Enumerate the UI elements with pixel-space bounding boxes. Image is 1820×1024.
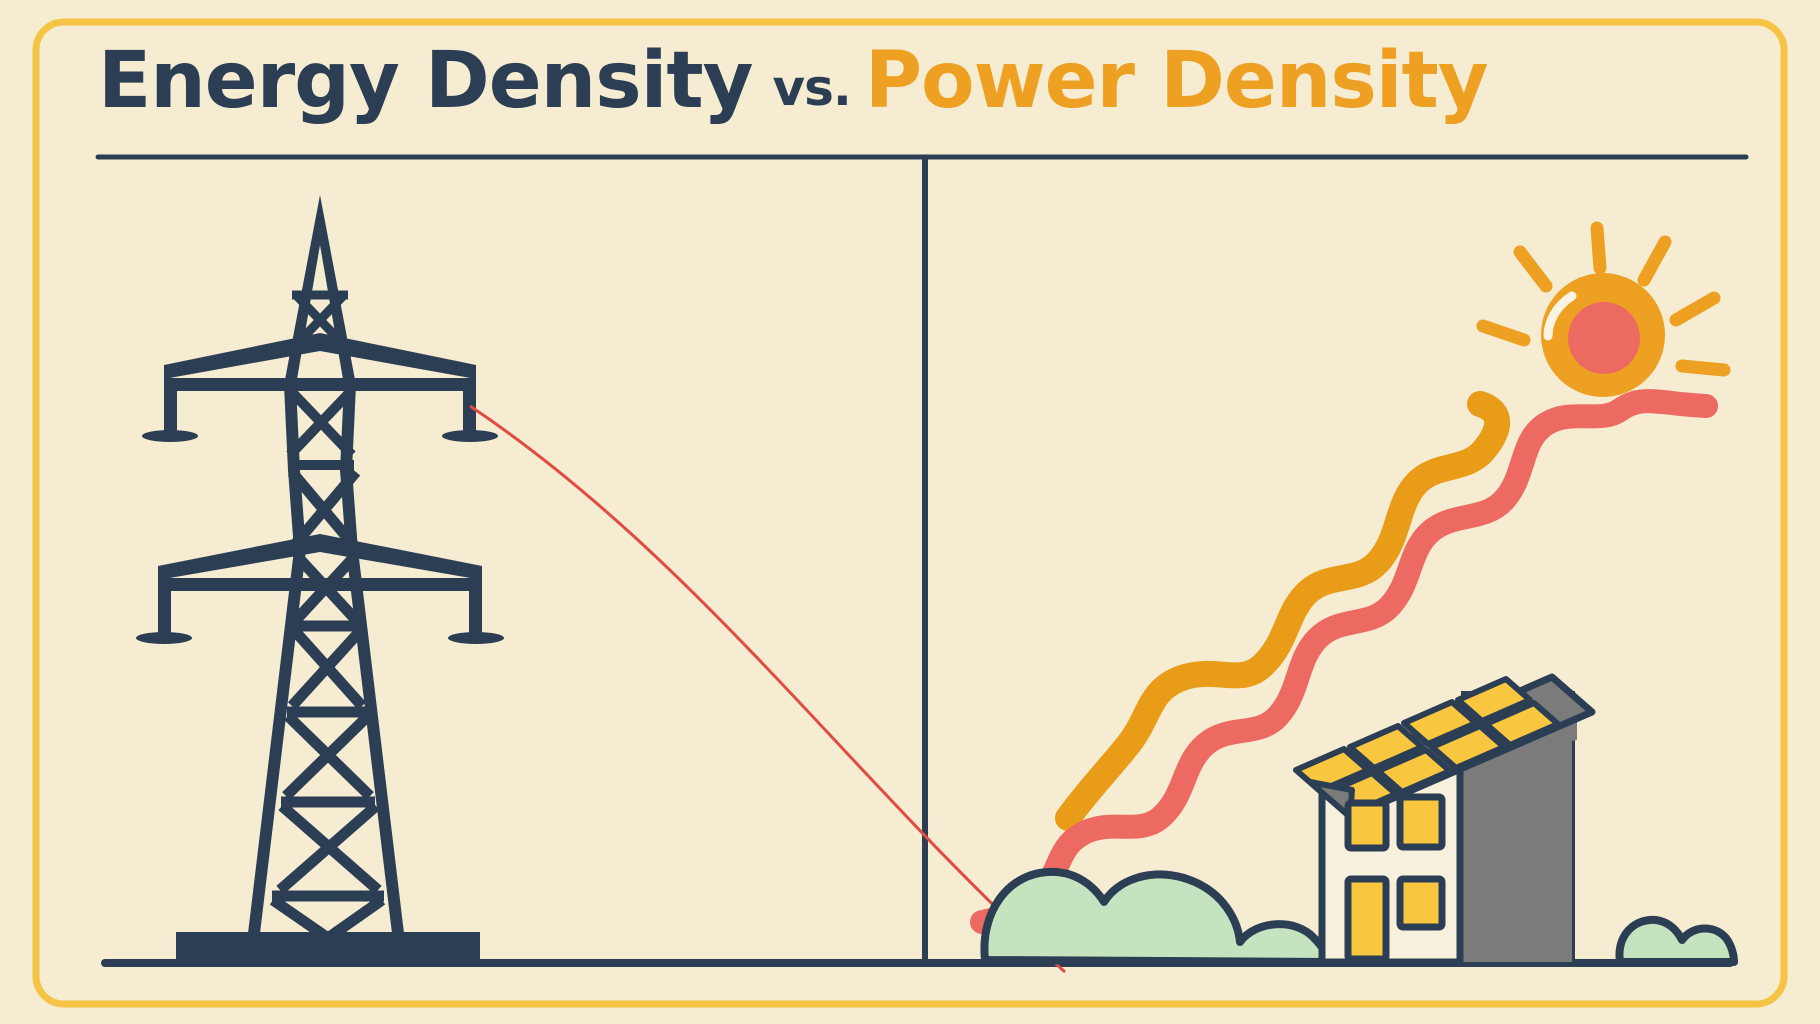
window-upper-right <box>1400 797 1442 847</box>
pylon-insulator-right-upper <box>442 430 498 442</box>
pylon-insulator-right-lower <box>448 632 504 644</box>
pylon-arm-post-right-lower <box>469 578 482 634</box>
pylon-arm-post-left-upper <box>164 378 177 432</box>
sun-core <box>1568 302 1640 374</box>
window-lower-right <box>1400 879 1442 927</box>
pylon-insulator-left-upper <box>142 430 198 442</box>
pylon-crossarm-upper-bar <box>164 378 476 391</box>
house-door <box>1348 879 1386 959</box>
pylon-insulator-left-lower <box>136 632 192 644</box>
illustration-svg <box>0 0 1820 1024</box>
infographic-canvas: Energy Density vs. Power Density <box>0 0 1820 1024</box>
pylon-arm-post-right-upper <box>463 378 476 432</box>
pylon-arm-post-left-lower <box>158 578 171 634</box>
window-upper-left <box>1348 803 1386 848</box>
